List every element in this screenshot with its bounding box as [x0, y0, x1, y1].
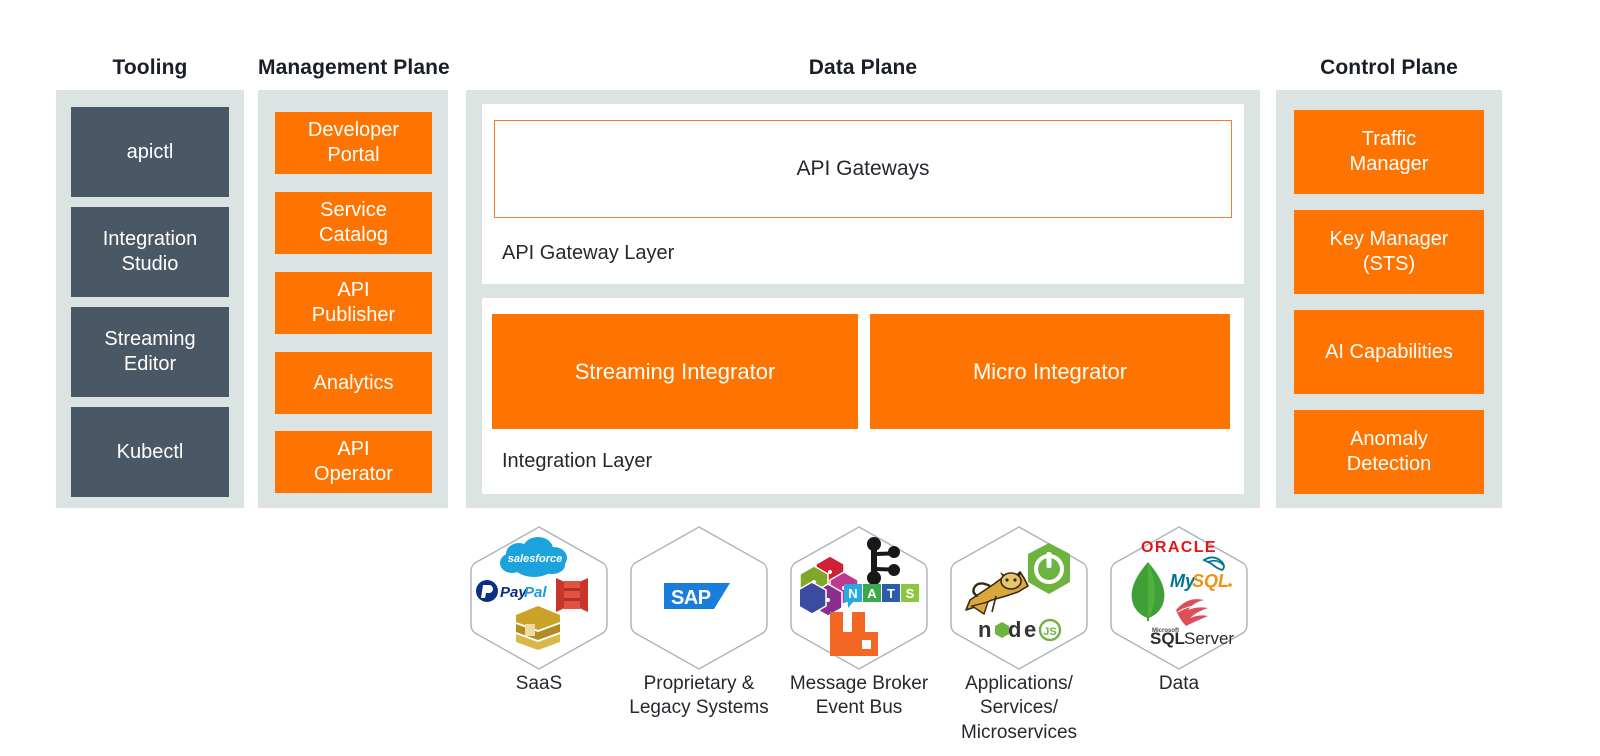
sap-logo: SAP [664, 579, 736, 615]
system-label-data: Data [1084, 672, 1274, 696]
svg-text:JS: JS [1043, 626, 1056, 638]
column-header-control-plane: Control Plane [1276, 56, 1502, 80]
api-gateway-layer-label: API Gateway Layer [502, 242, 674, 265]
tooling-item-apictl[interactable]: apictl [71, 107, 229, 197]
svg-text:SQL: SQL [1192, 571, 1229, 591]
integration-item-micro-integrator[interactable]: Micro Integrator [870, 314, 1230, 429]
management-item-service-catalog[interactable]: ServiceCatalog [275, 192, 432, 254]
column-header-data-plane: Data Plane [466, 56, 1260, 80]
aws-s3-logo [512, 602, 564, 654]
system-hex-saas[interactable]: salesforce Pay Pal [468, 524, 610, 672]
management-item-api-publisher[interactable]: APIPublisher [275, 272, 432, 334]
control-item-traffic-manager[interactable]: TrafficManager [1294, 110, 1484, 194]
architecture-diagram: Tooling Management Plane Data Plane Cont… [0, 0, 1600, 756]
svg-text:SAP: SAP [671, 587, 711, 609]
svg-text:S: S [906, 586, 915, 601]
system-hex-applications[interactable]: n d e JS [948, 524, 1090, 672]
tooling-item-streaming-editor[interactable]: StreamingEditor [71, 307, 229, 397]
svg-text:e: e [1024, 617, 1036, 642]
integration-item-streaming-integrator[interactable]: Streaming Integrator [492, 314, 858, 429]
nodejs-logo: n d e JS [978, 616, 1066, 644]
management-item-developer-portal[interactable]: DeveloperPortal [275, 112, 432, 174]
svg-text:T: T [887, 586, 895, 601]
sql-server-logo: Microsoft SQL Server [1148, 596, 1240, 648]
svg-text:salesforce: salesforce [508, 553, 562, 565]
rabbitmq-logo [828, 610, 880, 658]
system-hex-message-broker[interactable]: N A T S [788, 524, 930, 672]
control-item-anomaly-detection[interactable]: AnomalyDetection [1294, 410, 1484, 494]
svg-text:Server: Server [1184, 629, 1234, 648]
tooling-item-integration-studio[interactable]: IntegrationStudio [71, 207, 229, 297]
nats-logo: N A T S [844, 584, 922, 608]
tomcat-logo [962, 570, 1034, 620]
svg-text:Pal: Pal [524, 584, 547, 601]
svg-text:n: n [978, 617, 991, 642]
control-item-key-manager[interactable]: Key Manager(STS) [1294, 210, 1484, 294]
paypal-logo: Pay Pal [476, 578, 550, 604]
management-item-api-operator[interactable]: APIOperator [275, 431, 432, 493]
column-header-management-plane: Management Plane [258, 56, 448, 80]
system-hex-proprietary-legacy[interactable]: SAP [628, 524, 770, 672]
svg-text:SQL: SQL [1150, 629, 1185, 648]
integration-layer-label: Integration Layer [502, 450, 652, 473]
control-item-ai-capabilities[interactable]: AI Capabilities [1294, 310, 1484, 394]
svg-text:d: d [1008, 617, 1021, 642]
api-gateways-box[interactable]: API Gateways [494, 120, 1232, 218]
tooling-item-kubectl[interactable]: Kubectl [71, 407, 229, 497]
management-item-analytics[interactable]: Analytics [275, 352, 432, 414]
svg-text:N: N [848, 586, 857, 601]
system-hex-data[interactable]: ORACLE My SQL [1108, 524, 1250, 672]
column-header-tooling: Tooling [56, 56, 244, 80]
kafka-logo [858, 536, 904, 588]
svg-text:A: A [867, 586, 877, 601]
mysql-logo: My SQL [1168, 554, 1240, 600]
